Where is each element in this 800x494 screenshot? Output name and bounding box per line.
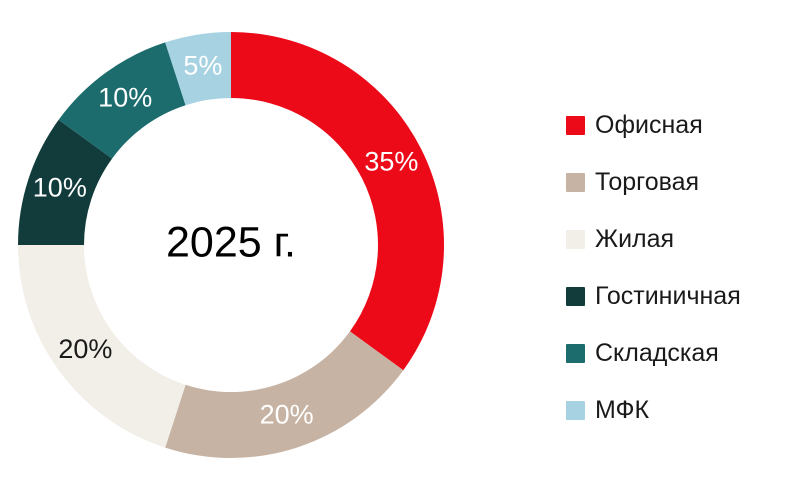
legend-swatch-icon <box>566 116 585 135</box>
donut-slice[interactable] <box>165 331 403 458</box>
legend-item-label: Офисная <box>595 112 703 138</box>
donut-slice-label: 35% <box>364 146 418 176</box>
legend-swatch-icon <box>566 344 585 363</box>
legend-swatch-icon <box>566 287 585 306</box>
donut-slice-label: 20% <box>58 334 112 364</box>
legend-item[interactable]: Складская <box>566 340 794 366</box>
legend-item[interactable]: Торговая <box>566 169 794 195</box>
legend-swatch-icon <box>566 230 585 249</box>
legend-item[interactable]: Гостиничная <box>566 283 794 309</box>
donut-chart-figure: 35%20%20%10%10%5% 2025 г. ОфиснаяТоргова… <box>0 0 800 494</box>
chart-legend: ОфиснаяТорговаяЖилаяГостиничнаяСкладская… <box>566 112 794 423</box>
donut-center-title: 2025 г. <box>166 218 296 266</box>
legend-swatch-icon <box>566 173 585 192</box>
legend-item-label: Торговая <box>595 169 699 195</box>
legend-item-label: Жилая <box>595 226 674 252</box>
donut-slice-label: 20% <box>260 399 314 429</box>
donut-chart-plot-area: 35%20%20%10%10%5% 2025 г. <box>0 0 500 494</box>
donut-slice-label: 5% <box>183 50 222 80</box>
donut-chart-svg: 35%20%20%10%10%5% 2025 г. <box>0 0 500 494</box>
legend-swatch-icon <box>566 401 585 420</box>
legend-item[interactable]: МФК <box>566 397 794 423</box>
donut-slice[interactable] <box>231 32 444 370</box>
legend-item-label: Складская <box>595 340 719 366</box>
legend-item[interactable]: Офисная <box>566 112 794 138</box>
donut-slice-label: 10% <box>33 173 87 203</box>
donut-slice-label: 10% <box>98 83 152 113</box>
legend-item[interactable]: Жилая <box>566 226 794 252</box>
legend-item-label: МФК <box>595 397 649 423</box>
legend-item-label: Гостиничная <box>595 283 741 309</box>
